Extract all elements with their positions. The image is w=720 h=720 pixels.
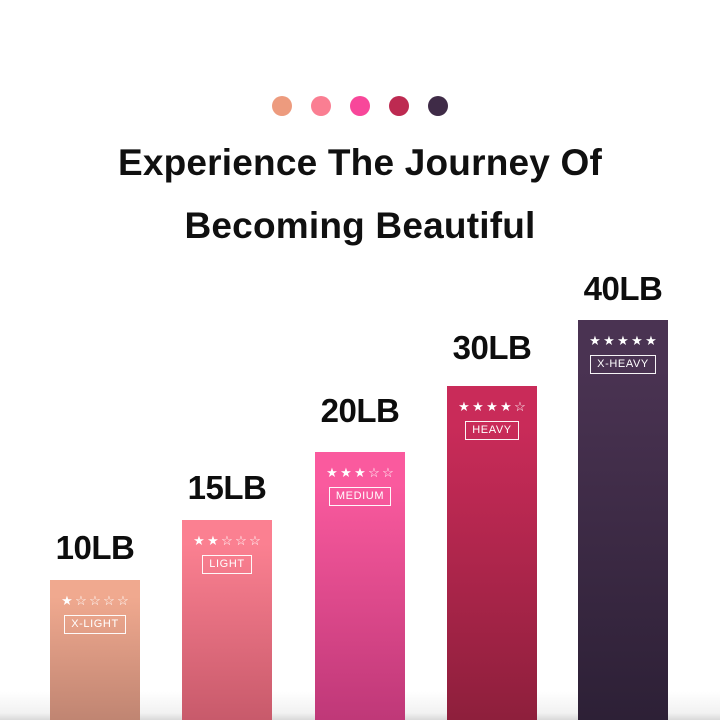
star-filled-icon: ★ xyxy=(630,334,644,348)
grade-badge: LIGHT xyxy=(202,555,251,574)
resistance-bar-chart: 10LB★☆☆☆☆X-LIGHT15LB★★☆☆☆LIGHT20LB★★★☆☆M… xyxy=(0,0,720,720)
star-empty-icon: ☆ xyxy=(367,466,381,480)
bar-column-light[interactable]: 15LB★★☆☆☆LIGHT xyxy=(182,471,272,720)
grade-badge: X-HEAVY xyxy=(590,355,656,374)
bar-content: ★☆☆☆☆X-LIGHT xyxy=(50,580,140,634)
star-filled-icon: ★ xyxy=(325,466,339,480)
bar-content: ★★★★☆HEAVY xyxy=(447,386,537,440)
star-filled-icon: ★ xyxy=(471,400,485,414)
star-rating: ★☆☆☆☆ xyxy=(60,594,130,608)
bar-value-label: 20LB xyxy=(301,394,419,428)
bar-value-label: 10LB xyxy=(36,531,154,565)
star-empty-icon: ☆ xyxy=(234,534,248,548)
bar-content: ★★☆☆☆LIGHT xyxy=(182,520,272,574)
star-empty-icon: ☆ xyxy=(102,594,116,608)
star-filled-icon: ★ xyxy=(192,534,206,548)
star-filled-icon: ★ xyxy=(339,466,353,480)
star-empty-icon: ☆ xyxy=(220,534,234,548)
bar-rect[interactable]: ★★★★★X-HEAVY xyxy=(578,320,668,720)
grade-badge: HEAVY xyxy=(465,421,518,440)
bar-value-label: 15LB xyxy=(168,471,286,505)
star-empty-icon: ☆ xyxy=(381,466,395,480)
bar-column-x-heavy[interactable]: 40LB★★★★★X-HEAVY xyxy=(578,272,668,720)
star-filled-icon: ★ xyxy=(602,334,616,348)
bar-content: ★★★☆☆MEDIUM xyxy=(315,452,405,506)
star-filled-icon: ★ xyxy=(485,400,499,414)
bar-content: ★★★★★X-HEAVY xyxy=(578,320,668,374)
star-filled-icon: ★ xyxy=(206,534,220,548)
star-empty-icon: ☆ xyxy=(116,594,130,608)
bar-rect[interactable]: ★★☆☆☆LIGHT xyxy=(182,520,272,720)
star-filled-icon: ★ xyxy=(60,594,74,608)
star-filled-icon: ★ xyxy=(499,400,513,414)
bar-value-label: 40LB xyxy=(564,272,682,306)
star-rating: ★★★★☆ xyxy=(457,400,527,414)
bar-value-label: 30LB xyxy=(433,331,551,365)
poster-canvas: Experience The Journey Of Becoming Beaut… xyxy=(0,0,720,720)
grade-badge: MEDIUM xyxy=(329,487,391,506)
star-rating: ★★★☆☆ xyxy=(325,466,395,480)
bar-rect[interactable]: ★☆☆☆☆X-LIGHT xyxy=(50,580,140,720)
star-empty-icon: ☆ xyxy=(248,534,262,548)
star-filled-icon: ★ xyxy=(644,334,658,348)
bar-column-heavy[interactable]: 30LB★★★★☆HEAVY xyxy=(447,331,537,720)
bar-rect[interactable]: ★★★☆☆MEDIUM xyxy=(315,452,405,720)
star-filled-icon: ★ xyxy=(457,400,471,414)
star-rating: ★★☆☆☆ xyxy=(192,534,262,548)
star-empty-icon: ☆ xyxy=(88,594,102,608)
star-empty-icon: ☆ xyxy=(74,594,88,608)
bar-column-medium[interactable]: 20LB★★★☆☆MEDIUM xyxy=(315,394,405,720)
star-filled-icon: ★ xyxy=(353,466,367,480)
star-empty-icon: ☆ xyxy=(513,400,527,414)
star-filled-icon: ★ xyxy=(616,334,630,348)
star-rating: ★★★★★ xyxy=(588,334,658,348)
bar-rect[interactable]: ★★★★☆HEAVY xyxy=(447,386,537,720)
grade-badge: X-LIGHT xyxy=(64,615,126,634)
bar-column-x-light[interactable]: 10LB★☆☆☆☆X-LIGHT xyxy=(50,531,140,720)
star-filled-icon: ★ xyxy=(588,334,602,348)
